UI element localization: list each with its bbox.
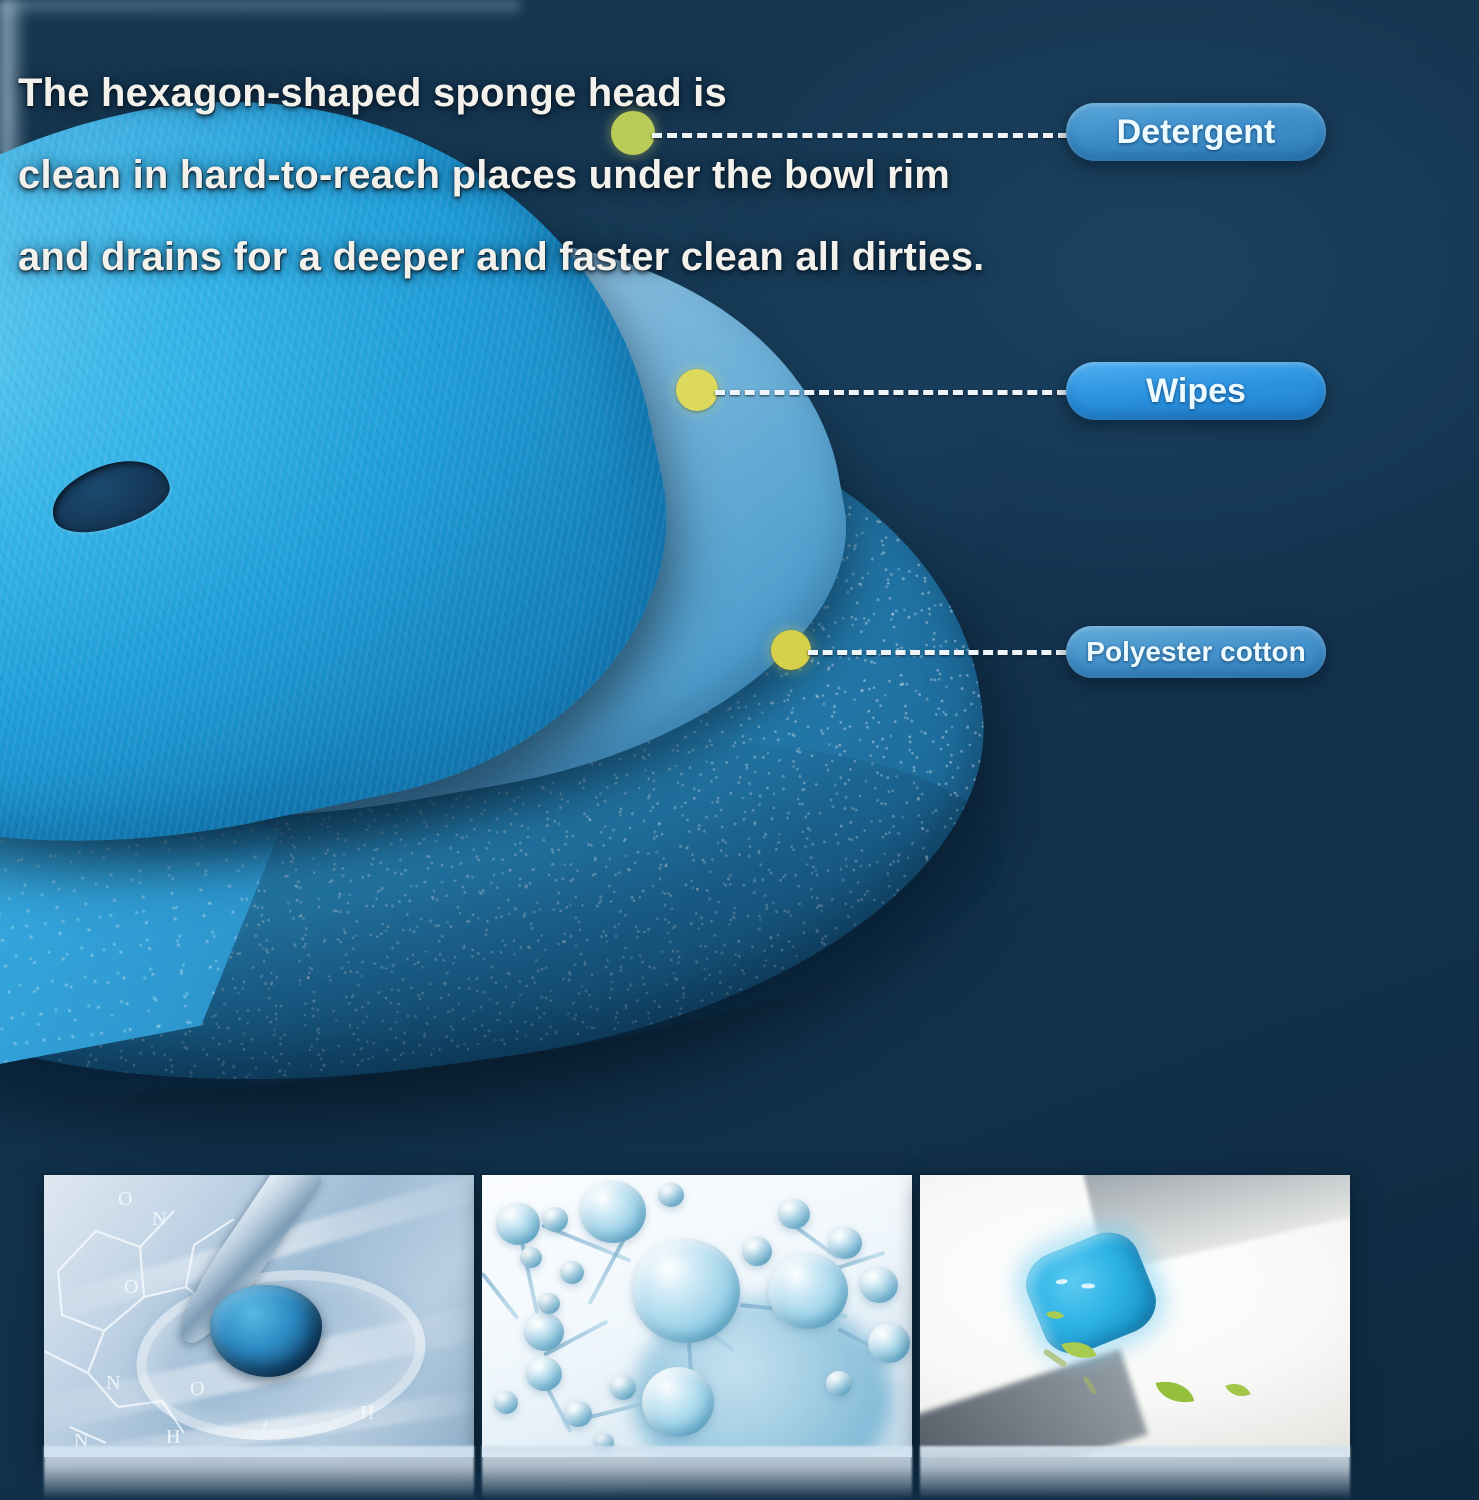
molecule-sphere xyxy=(564,1401,592,1427)
callout-label-detergent-text: Detergent xyxy=(1117,113,1276,152)
callout-label-wipes[interactable]: Wipes xyxy=(1066,362,1326,420)
thumbnail-reflection xyxy=(920,1446,1350,1500)
molecule-sphere xyxy=(496,1203,540,1245)
molecule-sphere xyxy=(560,1261,584,1284)
molecule-sphere xyxy=(742,1237,772,1266)
thumbnail-toilet-gel[interactable] xyxy=(920,1175,1350,1457)
molecule-sphere xyxy=(778,1199,810,1229)
molecule-sphere xyxy=(868,1323,910,1363)
molecule-sphere xyxy=(860,1267,898,1303)
molecule-sphere xyxy=(538,1293,560,1314)
molecule-sphere xyxy=(526,1357,562,1391)
leader-line-detergent xyxy=(652,133,1068,138)
molecule-sphere xyxy=(826,1371,852,1396)
callout-dot-polyester xyxy=(771,630,811,670)
svg-text:O: O xyxy=(124,1276,138,1298)
top-edge-glow xyxy=(0,0,520,18)
callout-dot-detergent xyxy=(611,111,655,155)
molecule-sphere xyxy=(610,1375,636,1400)
product-infographic: The hexagon-shaped sponge head is clean … xyxy=(0,0,1479,1500)
molecule-sphere xyxy=(658,1183,684,1207)
svg-text:H: H xyxy=(166,1426,180,1448)
callout-label-detergent[interactable]: Detergent xyxy=(1066,103,1326,161)
svg-text:N: N xyxy=(106,1372,120,1394)
molecule-sphere xyxy=(768,1253,848,1329)
molecule-sphere xyxy=(494,1391,518,1414)
molecule-sphere xyxy=(524,1313,564,1351)
molecule-sphere xyxy=(828,1227,862,1259)
molecule-sphere xyxy=(542,1207,568,1232)
callout-label-polyester-text: Polyester cotton xyxy=(1086,636,1305,668)
molecule-sphere xyxy=(642,1367,714,1437)
molecule-sphere xyxy=(520,1247,542,1268)
page-title: The hexagon-shaped sponge head is clean … xyxy=(18,52,1228,298)
callout-label-polyester[interactable]: Polyester cotton xyxy=(1066,626,1326,678)
svg-text:O: O xyxy=(118,1188,132,1210)
gel-highlight xyxy=(1081,1284,1095,1289)
thumbnail-row: O N O O N O N H H / xyxy=(0,1175,1479,1457)
svg-text:N: N xyxy=(152,1208,166,1230)
thumbnail-reflection xyxy=(482,1446,912,1500)
callout-label-wipes-text: Wipes xyxy=(1146,372,1246,411)
leader-line-wipes xyxy=(715,390,1067,395)
gel-highlight xyxy=(1055,1279,1067,1285)
thumbnail-chemistry[interactable]: O N O O N O N H H / xyxy=(44,1175,474,1457)
leader-line-polyester xyxy=(808,650,1066,655)
molecule-sphere xyxy=(580,1181,646,1243)
thumbnail-molecules[interactable] xyxy=(482,1175,912,1457)
callout-dot-wipes xyxy=(676,369,718,411)
molecule-sphere xyxy=(632,1239,740,1343)
thumbnail-reflection xyxy=(44,1446,474,1500)
